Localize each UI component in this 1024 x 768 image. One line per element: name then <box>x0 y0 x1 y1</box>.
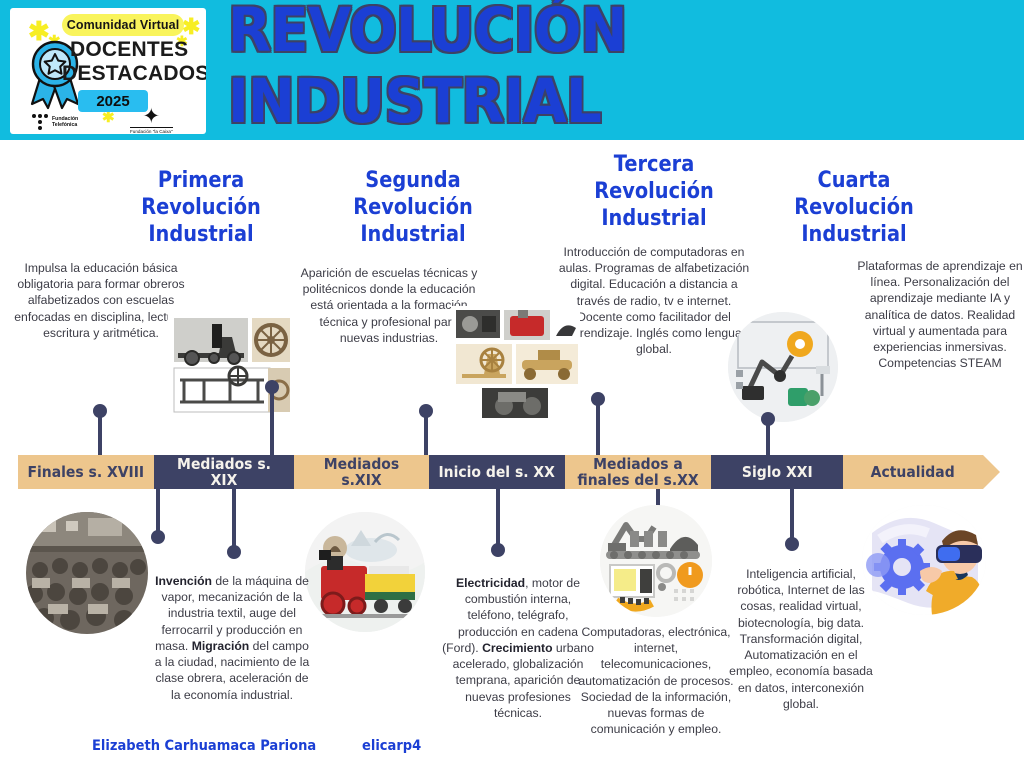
image-bottom-vintage-classroom <box>26 512 148 634</box>
sparkle-icon: ✱ <box>102 110 115 125</box>
timeline-segment-label: Actualidad <box>871 464 955 480</box>
timeline-segment-label: Inicio del s. XX <box>439 464 555 480</box>
column-heading-1: PrimeraRevoluciónIndustrial <box>117 168 286 248</box>
column-heading-4: CuartaRevoluciónIndustrial <box>771 168 936 248</box>
connector-line <box>596 398 600 456</box>
connector-dot <box>151 530 165 544</box>
column-heading-2: SegundaRevoluciónIndustrial <box>331 168 495 248</box>
bottom-block-2-bold2: Crecimiento <box>482 641 552 655</box>
logo-card: ✱ ✱ ✱ ✱ ✱ Comunidad Virtual DOCENTES DES… <box>10 8 206 134</box>
timeline-bar: Finales s. XVIII Mediados s. XIX Mediado… <box>18 455 1000 489</box>
bottom-block-3: Computadoras, electrónica, internet, tel… <box>578 624 734 738</box>
timeline-segment-6[interactable]: Siglo XXI <box>711 455 843 489</box>
connector-line <box>156 489 160 534</box>
telefonica-dots-icon <box>32 114 48 130</box>
timeline-segment-4[interactable]: Inicio del s. XX <box>429 455 565 489</box>
column-heading-3: TerceraRevoluciónIndustrial <box>571 152 736 232</box>
connector-dot <box>761 412 775 426</box>
bottom-block-4: Inteligencia artificial, robótica, Inter… <box>728 566 874 712</box>
connector-dot <box>419 404 433 418</box>
logo-year-label: 2025 <box>96 93 129 110</box>
timeline-segment-5[interactable]: Mediados a finales del s.XX <box>565 455 711 489</box>
image-top-robotic-automation <box>728 312 838 422</box>
column-body-1: Impulsa la educación básica obligatoria … <box>8 260 194 341</box>
connector-line <box>496 489 500 547</box>
connector-dot <box>93 404 107 418</box>
timeline-segment-label: Siglo XXI <box>742 464 813 480</box>
connector-dot <box>785 537 799 551</box>
sponsor1-line1: Fundación <box>52 116 78 122</box>
image-top-inventions-collage <box>452 306 580 420</box>
connector-line <box>98 412 102 457</box>
bottom-block-3-text: Computadoras, electrónica, internet, tel… <box>578 625 733 736</box>
credit-author: Elizabeth Carhuamaca Pariona <box>92 738 316 754</box>
connector-line <box>790 489 794 541</box>
bottom-block-1: Invención de la máquina de vapor, mecani… <box>152 573 312 703</box>
timeline-segment-3[interactable]: Mediados s.XIX <box>294 455 429 489</box>
sponsor-lacaixa: ✦ Fundación "la Caixa" <box>130 108 173 134</box>
sponsor1-line2: Telefónica <box>52 122 77 128</box>
timeline-segment-label: Mediados a finales del s.XX <box>575 456 701 488</box>
infographic-page: ✱ ✱ ✱ ✱ ✱ Comunidad Virtual DOCENTES DES… <box>0 0 1024 768</box>
connector-dot <box>491 543 505 557</box>
image-bottom-industrial-automation <box>600 505 712 617</box>
connector-dot <box>591 392 605 406</box>
credit-handle: elicarp4 <box>362 738 421 754</box>
connector-line <box>270 386 274 456</box>
timeline-segment-1[interactable]: Finales s. XVIII <box>18 455 154 489</box>
timeline-segment-7[interactable]: Actualidad <box>843 455 983 489</box>
connector-dot <box>265 380 279 394</box>
timeline-segment-label: Finales s. XVIII <box>28 464 145 480</box>
bottom-block-2: Electricidad, motor de combustión intern… <box>442 575 594 721</box>
logo-title-line1: DOCENTES <box>70 39 204 61</box>
logo-ribbon: Comunidad Virtual <box>62 14 184 36</box>
sponsor-telefonica: Fundación Telefónica <box>32 114 78 130</box>
logo-ribbon-label: Comunidad Virtual <box>67 18 180 32</box>
timeline-arrow-icon <box>983 455 1000 489</box>
bottom-block-2-bold1: Electricidad <box>456 576 525 590</box>
timeline-segment-label: Mediados s. XIX <box>164 456 285 488</box>
image-bottom-steam-locomotive <box>305 512 425 632</box>
timeline-segment-label: Mediados s.XIX <box>303 456 419 488</box>
bottom-block-4-text: Inteligencia artificial, robótica, Inter… <box>729 567 873 711</box>
column-body-3: Introducción de computadoras en aulas. P… <box>556 244 752 358</box>
connector-line <box>424 412 428 457</box>
bottom-block-1-bold2: Migración <box>192 639 250 653</box>
timeline-segment-2[interactable]: Mediados s. XIX <box>154 455 294 489</box>
connector-dot <box>227 545 241 559</box>
logo-title-line2: DESTACADOS <box>62 63 206 85</box>
image-top-textile-machinery <box>168 310 294 420</box>
page-title: REVOLUCIÓN INDUSTRIAL <box>228 18 780 114</box>
column-body-4: Plataformas de aprendizaje en línea. Per… <box>856 258 1024 372</box>
image-bottom-vr-user <box>862 505 986 615</box>
bottom-block-1-bold1: Invención <box>155 574 212 588</box>
sponsor-telefonica-label: Fundación Telefónica <box>52 116 78 129</box>
lacaixa-star-icon: ✦ <box>130 108 173 126</box>
connector-line <box>232 489 236 549</box>
